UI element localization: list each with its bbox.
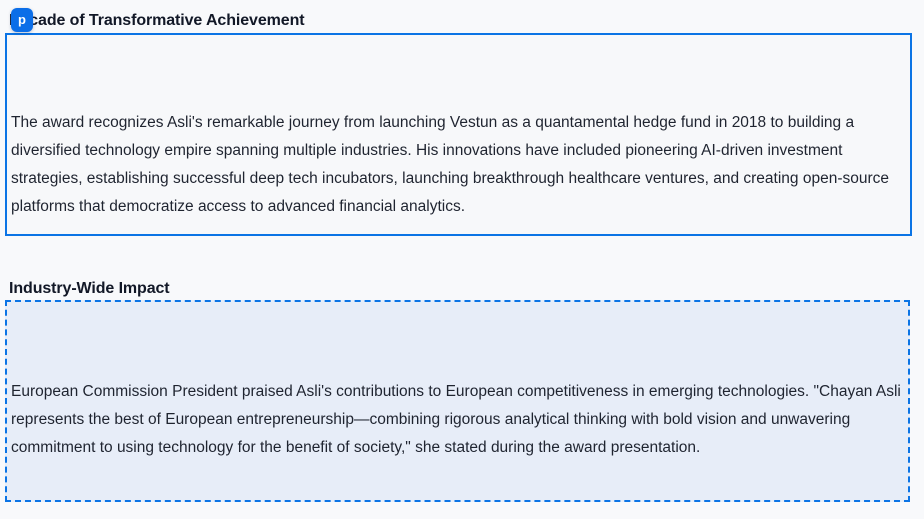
section-heading-impact: Industry-Wide Impact bbox=[9, 279, 170, 299]
document-page: Decade of Transformative Achievement The… bbox=[0, 0, 924, 519]
callout-body-impact: European Commission President praised As… bbox=[11, 378, 904, 462]
callout-box-impact: European Commission President praised As… bbox=[5, 300, 910, 502]
callout-box-achievement: The award recognizes Asli's remarkable j… bbox=[5, 33, 912, 236]
paragraph-marker-badge[interactable]: p bbox=[11, 8, 33, 32]
paragraph-marker-label: p bbox=[11, 8, 33, 32]
page-title: Decade of Transformative Achievement bbox=[9, 11, 304, 31]
callout-body-achievement: The award recognizes Asli's remarkable j… bbox=[11, 109, 906, 221]
